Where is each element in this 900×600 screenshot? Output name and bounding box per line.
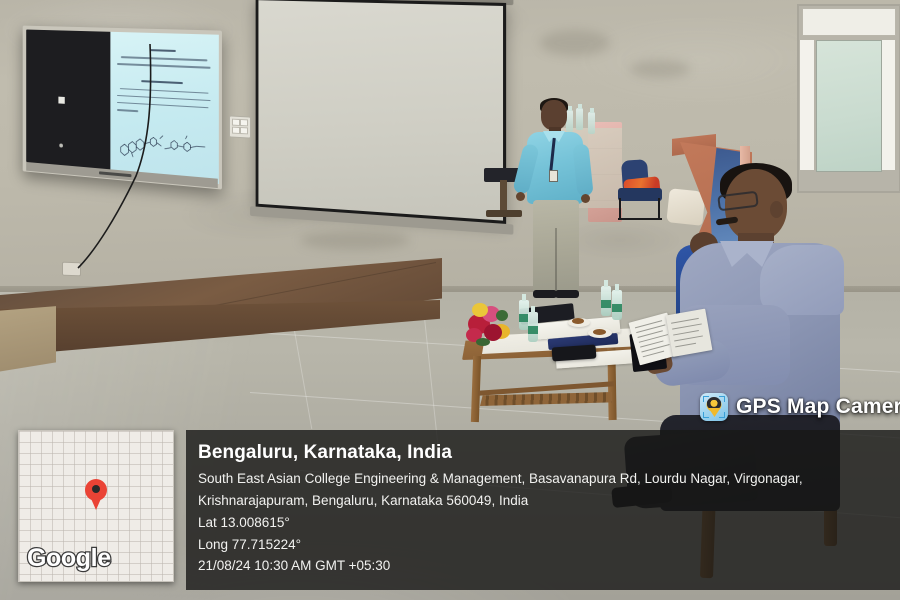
booklet-right-page	[666, 309, 713, 357]
water-bottle	[528, 312, 538, 342]
location-longitude: Long 77.715224°	[198, 534, 900, 556]
camera-lens-pin-icon	[707, 397, 722, 412]
screenshot-root: GPS Map Camera Bengaluru, Karnataka, Ind…	[0, 0, 900, 600]
presenter-head	[541, 100, 567, 130]
location-info-panel: Bengaluru, Karnataka, India South East A…	[186, 430, 900, 590]
table-leg	[471, 356, 481, 422]
presenter-shoe	[533, 290, 557, 298]
window-glass-pane	[816, 40, 882, 172]
map-pin-hole	[92, 485, 100, 493]
gps-map-camera-watermark: GPS Map Camera	[700, 393, 900, 421]
water-bottle	[601, 286, 611, 316]
presenter-hand	[581, 194, 590, 203]
standing-presenter	[517, 100, 595, 312]
flower-leaf	[476, 338, 490, 346]
snack-item	[572, 318, 584, 324]
booklet-text-line	[671, 318, 699, 324]
booklet-text-line	[643, 351, 665, 358]
watermark-label: GPS Map Camera	[736, 395, 900, 419]
snack-item	[593, 329, 606, 335]
booklet-text-line	[673, 330, 699, 335]
wall-stain	[300, 230, 410, 250]
map-pin-icon	[85, 479, 107, 501]
flower-petal	[472, 303, 488, 317]
location-address-line-2: Krishnarajapuram, Bengaluru, Karnataka 5…	[198, 490, 900, 512]
location-latitude: Lat 13.008615°	[198, 512, 900, 534]
booklet-text-line	[672, 323, 702, 329]
google-attribution: Google	[27, 544, 111, 573]
wall-stain	[540, 30, 610, 56]
flower-leaf	[496, 310, 508, 321]
power-cable	[0, 0, 300, 300]
presenter-hand	[516, 192, 525, 201]
presenter-shoe	[555, 290, 579, 298]
capture-timestamp: 21/08/24 10:30 AM GMT +05:30	[198, 555, 900, 577]
presenter-id-badge	[549, 170, 558, 182]
booklet-text-line	[674, 335, 703, 341]
location-city: Bengaluru, Karnataka, India	[198, 442, 900, 464]
presenter-trouser-seam	[555, 228, 557, 290]
stand-pole	[500, 180, 507, 214]
flower-bouquet	[466, 300, 528, 350]
location-address-line-1: South East Asian College Engineering & M…	[198, 468, 900, 490]
window-open-gap	[800, 40, 814, 170]
wall-stain	[630, 60, 690, 78]
booklet-text-line	[675, 343, 696, 348]
seated-man-ear	[770, 201, 783, 218]
gps-camera-icon	[700, 393, 728, 421]
window-transom	[802, 8, 896, 36]
map-thumbnail[interactable]: Google	[18, 430, 174, 582]
window-open-gap	[881, 40, 895, 170]
